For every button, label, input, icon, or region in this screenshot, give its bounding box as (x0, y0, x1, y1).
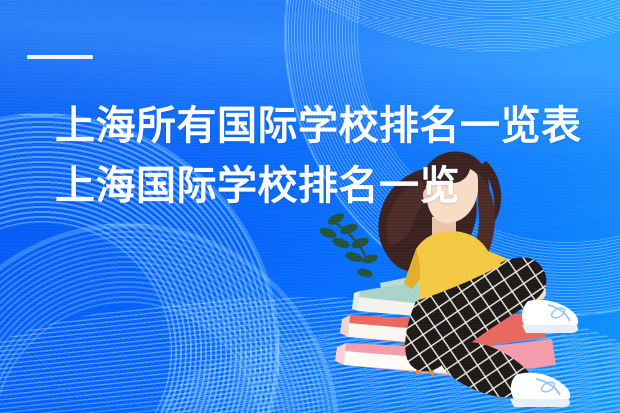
figure-shoe-front (510, 373, 570, 407)
title-line-2: 上海国际学校排名一览 (55, 156, 535, 216)
banner-image: 上海所有国际学校排名一览表 上海国际学校排名一览 (0, 0, 620, 413)
accent-rule (27, 55, 93, 59)
title-block: 上海所有国际学校排名一览表 上海国际学校排名一览 (55, 96, 535, 216)
plant-branch-icon (320, 211, 379, 279)
title-line-1: 上海所有国际学校排名一览表 (55, 96, 535, 156)
figure-shoe-back (522, 300, 578, 333)
